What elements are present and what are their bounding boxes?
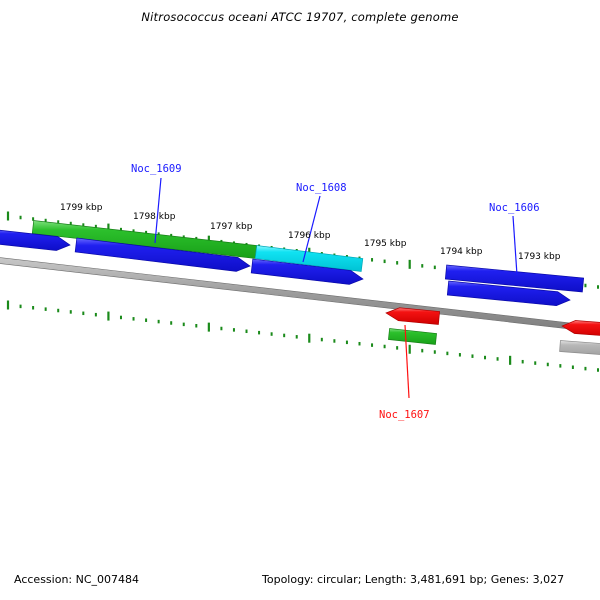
gene-label-noc_1609[interactable]: Noc_1609 (131, 163, 182, 175)
ruler-tick-minor (258, 331, 260, 335)
feature-gray-gene-right[interactable] (560, 341, 600, 356)
ruler-tick-minor (384, 345, 386, 349)
ruler-tick-minor (597, 368, 599, 372)
ruler-tick-major (308, 334, 310, 343)
ruler-tick-minor (371, 343, 373, 347)
genome-map-viewer: Nitrosococcus oceani ATCC 19707, complet… (0, 0, 600, 600)
ruler-label-6: 1793 kbp (518, 252, 560, 262)
ruler-tick-minor (572, 365, 574, 369)
ruler-tick-minor (384, 260, 386, 264)
ruler-tick-minor (195, 324, 197, 328)
ruler-tick-major (7, 212, 9, 221)
ruler-tick-minor (95, 313, 97, 317)
ruler-tick-minor (559, 364, 561, 368)
ruler-tick-minor (522, 360, 524, 364)
ruler-tick-minor (246, 330, 248, 334)
tick-row-lower (7, 301, 599, 372)
ruler-label-5: 1794 kbp (440, 247, 482, 257)
ruler-tick-minor (20, 305, 22, 309)
ruler-tick-minor (396, 346, 398, 350)
ruler-label-4: 1795 kbp (364, 239, 406, 249)
ruler-tick-minor (396, 261, 398, 265)
ruler-tick-major (409, 345, 411, 354)
ruler-tick-minor (82, 312, 84, 316)
ruler-label-1: 1798 kbp (133, 212, 175, 222)
ruler-tick-minor (283, 334, 285, 338)
ruler-tick-minor (133, 317, 135, 321)
ruler-tick-minor (45, 307, 47, 311)
ruler-tick-minor (233, 328, 235, 332)
genome-map-canvas[interactable] (0, 0, 600, 600)
gene-label-noc_1607[interactable]: Noc_1607 (379, 409, 430, 421)
ruler-tick-minor (534, 361, 536, 365)
ruler-tick-minor (484, 356, 486, 360)
ruler-tick-minor (459, 353, 461, 357)
gene-label-noc_1608[interactable]: Noc_1608 (296, 182, 347, 194)
ruler-tick-minor (471, 354, 473, 358)
leader-line-noc_1606 (513, 216, 517, 275)
genome-stats-label: Topology: circular; Length: 3,481,691 bp… (262, 573, 564, 586)
ruler-tick-minor (434, 266, 436, 270)
ruler-tick-major (509, 356, 511, 365)
gene-label-noc_1606[interactable]: Noc_1606 (489, 202, 540, 214)
ruler-tick-minor (321, 338, 323, 342)
ruler-tick-minor (70, 310, 72, 314)
ruler-tick-minor (434, 350, 436, 354)
ruler-tick-minor (346, 341, 348, 345)
ruler-label-0: 1799 kbp (60, 203, 102, 213)
ruler-tick-minor (584, 284, 586, 288)
ruler-tick-minor (296, 335, 298, 339)
ruler-tick-minor (421, 349, 423, 353)
ruler-tick-major (208, 323, 210, 332)
ruler-tick-minor (446, 352, 448, 356)
ruler-tick-minor (584, 367, 586, 371)
ruler-tick-minor (421, 264, 423, 268)
feature-green-gene-1607[interactable] (388, 329, 436, 345)
ruler-tick-major (107, 312, 109, 321)
ruler-tick-minor (120, 316, 122, 320)
ruler-tick-minor (220, 327, 222, 331)
ruler-label-3: 1796 kbp (288, 231, 330, 241)
ruler-tick-minor (145, 318, 147, 322)
ruler-tick-minor (358, 342, 360, 346)
ruler-tick-minor (497, 357, 499, 361)
ruler-tick-minor (32, 306, 34, 310)
ruler-tick-minor (547, 363, 549, 367)
ruler-label-2: 1797 kbp (210, 222, 252, 232)
ruler-tick-minor (271, 332, 273, 336)
ruler-tick-minor (170, 321, 172, 325)
accession-label: Accession: NC_007484 (14, 573, 139, 586)
ruler-tick-minor (371, 258, 373, 262)
ruler-tick-major (409, 260, 411, 269)
ruler-tick-minor (333, 339, 335, 343)
ruler-tick-major (7, 301, 9, 310)
ruler-tick-minor (183, 323, 185, 327)
ruler-tick-minor (20, 216, 22, 220)
ruler-tick-minor (597, 285, 599, 289)
ruler-tick-minor (57, 309, 59, 313)
ruler-tick-minor (158, 320, 160, 324)
